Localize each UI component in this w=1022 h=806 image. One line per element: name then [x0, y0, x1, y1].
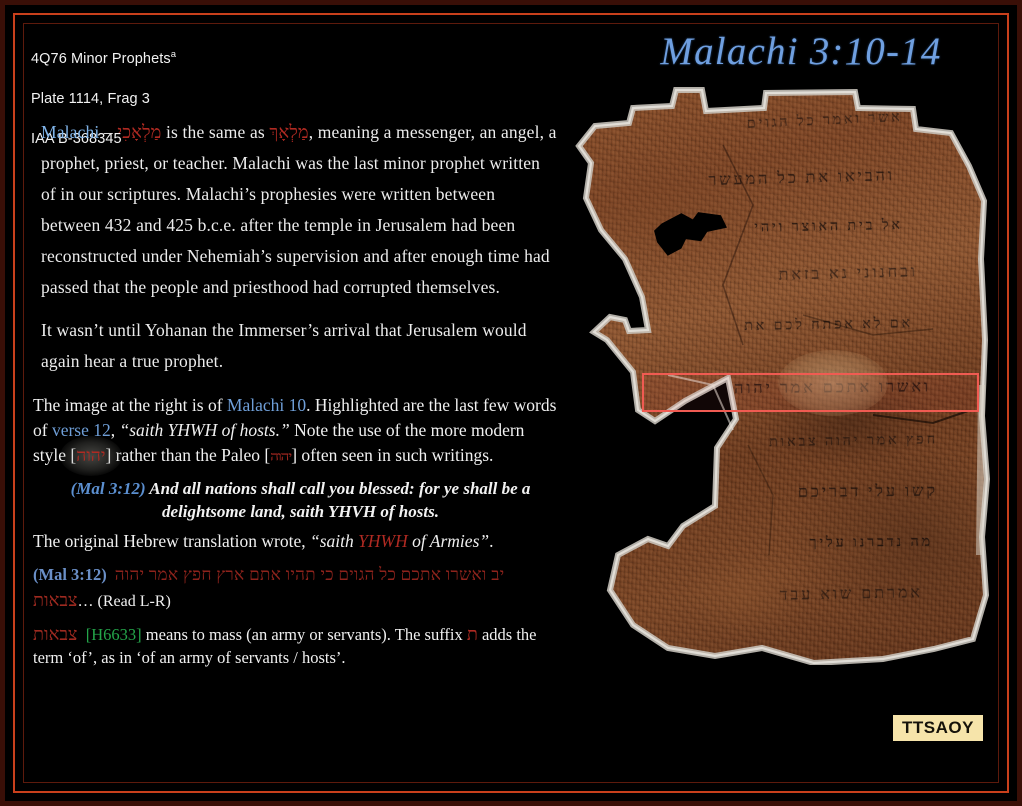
page-title: Malachi 3:10-14: [605, 29, 997, 74]
paragraph-malachi-definition: Malachi – מַלְאָכִי is the same as מַלְא…: [41, 117, 558, 303]
verse-reference: (Mal 3:12): [71, 479, 146, 498]
paleo-hebrew-yhwh: יהוה: [270, 447, 291, 468]
tetragrammaton-highlight: יהוה: [76, 443, 105, 468]
orig-text-1: The original Hebrew translation wrote,: [33, 531, 310, 551]
desc-text-1: The image at the right is of: [33, 395, 227, 415]
paragraph-strongs-definition: צבאות [H6633] means to mass (an army or …: [33, 623, 558, 669]
hebrew-verse-line: (Mal 3:12) יב ואשרו אתכם כל הגוים כי תהי…: [33, 562, 558, 614]
strongs-number: [H6633]: [86, 625, 142, 644]
watermark-logo: TTSAOY: [893, 715, 983, 741]
reference-verse-12: verse 12: [52, 420, 111, 440]
catalog-line-1: 4Q76 Minor Prophetsa: [31, 45, 176, 69]
desc-text-3: ,: [111, 420, 120, 440]
yhwh-red: YHWH: [358, 531, 408, 551]
scroll-fragment-figure: אשר ואמר כל הגויםוהביאו את כל המעשראל בי…: [573, 85, 1003, 665]
hebrew-suffix-tav: ת: [467, 624, 478, 644]
reference-malachi-10: Malachi 10: [227, 395, 306, 415]
paragraph-image-description: The image at the right is of Malachi 10.…: [33, 393, 558, 470]
connector-text: is the same as: [162, 122, 270, 142]
verse-quotation-block: (Mal 3:12) And all nations shall call yo…: [57, 477, 544, 523]
hebrew-malachi: מַלְאָכִי: [117, 122, 161, 142]
read-direction-note: … (Read L-R): [78, 593, 171, 610]
orig-text-2: .: [489, 531, 493, 551]
hebrew-malak: מַלְאָךְ: [269, 122, 308, 142]
strongs-text-1: means to mass (an army or servants). The…: [142, 625, 467, 644]
catalog-line-2: Plate 1114, Frag 3: [31, 89, 176, 109]
desc-text-6: ] often seen in such writings.: [291, 445, 493, 465]
paragraph-yohanan: It wasn’t until Yohanan the Immerser’s a…: [41, 315, 558, 377]
hebrew-verse-reference: (Mal 3:12): [33, 565, 107, 584]
orig-quote-close: of Armies”: [408, 531, 489, 551]
orig-quote-open: “saith: [310, 531, 358, 551]
catalog-superscript: a: [171, 49, 176, 60]
hebrew-tsevaot: צבאות: [33, 590, 78, 610]
dash-separator: –: [99, 122, 117, 142]
paragraph-original-hebrew: The original Hebrew translation wrote, “…: [33, 529, 558, 554]
desc-text-5: ] rather than the Paleo [: [105, 445, 270, 465]
slide-stage: 4Q76 Minor Prophetsa Plate 1114, Frag 3 …: [25, 25, 1007, 791]
hebrew-verse-text: יב ואשרו אתכם כל הגוים כי תהיו אתם ארץ ח…: [115, 565, 505, 584]
lead-word-malachi: Malachi: [41, 122, 99, 142]
hebrew-tetragrammaton: יהוה: [76, 445, 105, 465]
strongs-hebrew-word: צבאות: [33, 624, 78, 644]
content-column: Malachi – מַלְאָכִי is the same as מַלְא…: [33, 117, 558, 671]
catalog-title: 4Q76 Minor Prophets: [31, 51, 171, 67]
quote-saith-yhwh: “saith YHWH of hosts.”: [120, 420, 290, 440]
paragraph1-rest: , meaning a messenger, an angel, a proph…: [41, 122, 557, 297]
verse-text: And all nations shall call you blessed: …: [146, 479, 531, 521]
slide-canvas: 4Q76 Minor Prophetsa Plate 1114, Frag 3 …: [0, 0, 1022, 806]
verse-highlight-rectangle[interactable]: [642, 373, 979, 412]
